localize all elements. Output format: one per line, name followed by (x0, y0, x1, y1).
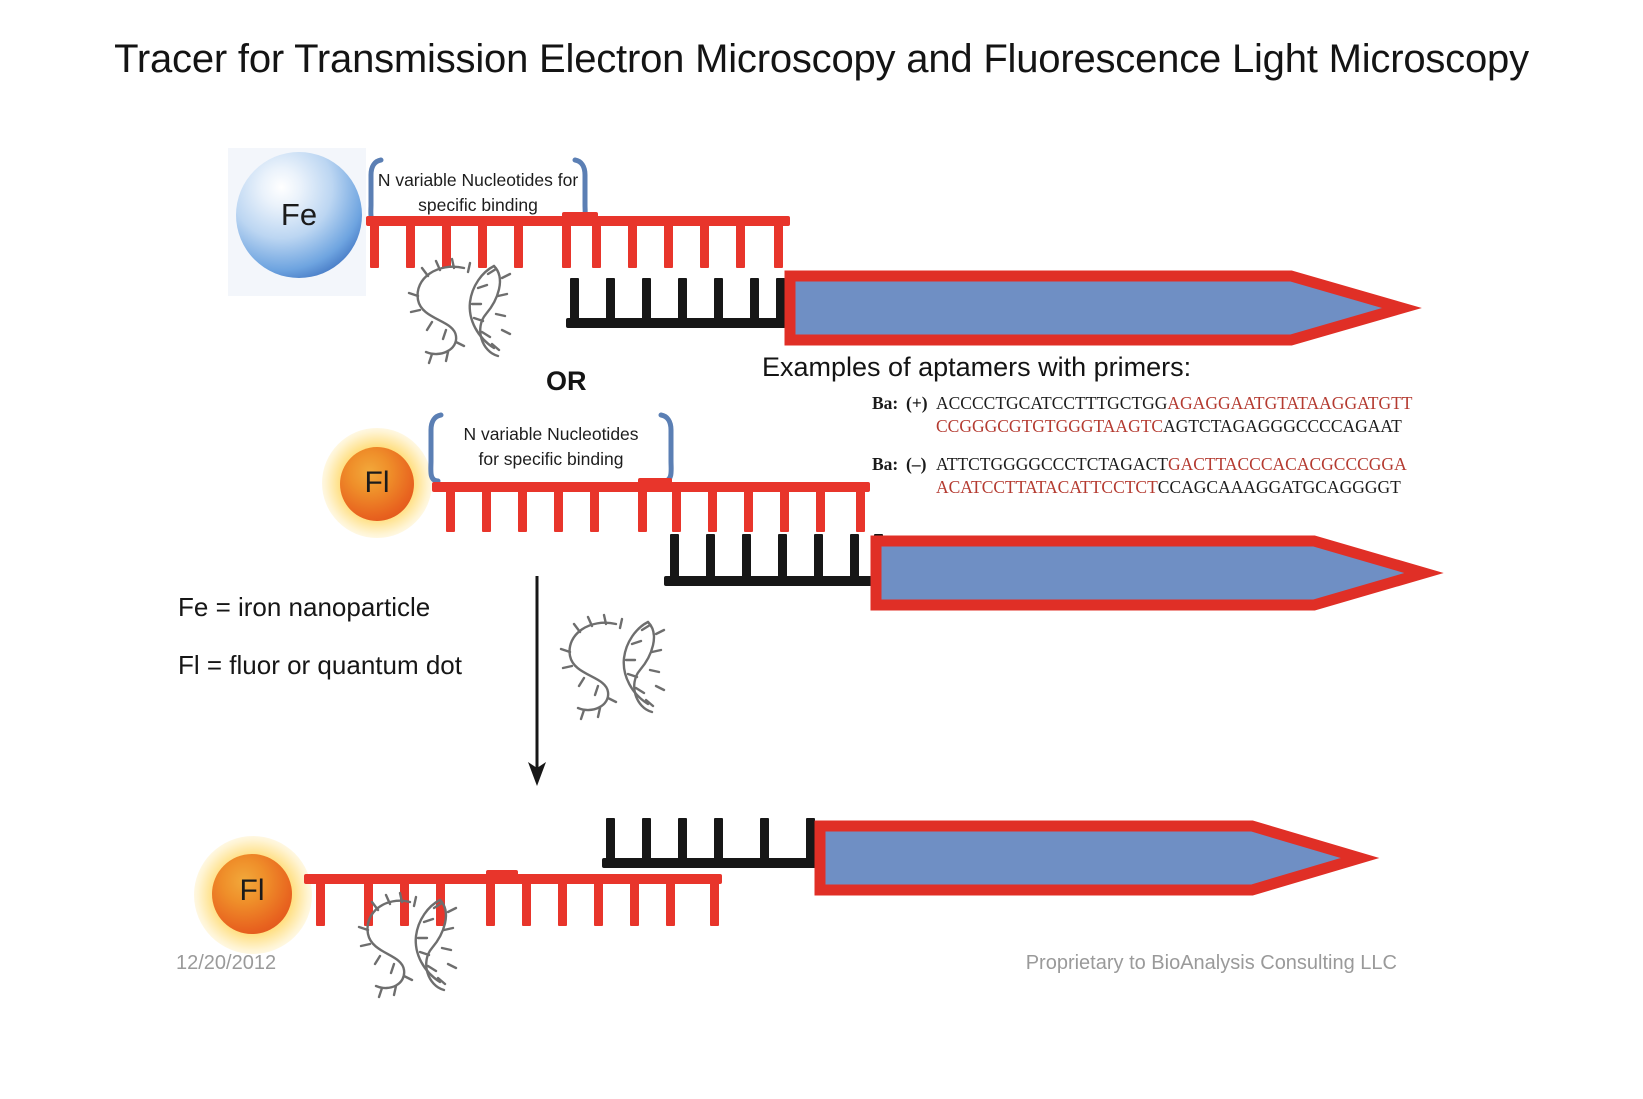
aptamer-tooth (522, 882, 531, 926)
primer-tooth (850, 534, 859, 578)
primer-strand-bottom (602, 818, 822, 868)
primer-tooth (760, 818, 769, 860)
primer-tooth (606, 818, 615, 860)
aptamer-tooth (856, 490, 865, 532)
aptamer-tooth (664, 224, 673, 268)
primer-tooth (642, 278, 651, 320)
aptamer-tooth (518, 490, 527, 532)
aptamer-nub (638, 478, 672, 490)
aptamer-tooth (370, 224, 379, 268)
aptamer-nub (486, 870, 518, 882)
primer-tooth (742, 534, 751, 578)
aptamer-tooth (562, 224, 571, 268)
sequence-row: Ba: (–) ATTCTGGGGCCCTCTAGACTGACTTACCCACA… (872, 453, 1432, 500)
aptamer-tooth (446, 490, 455, 532)
primer-tooth (678, 278, 687, 320)
fl-nanoparticle-label-bottom: Fl (212, 874, 292, 908)
primer-tooth (776, 278, 785, 320)
sequence-tag: Ba: (872, 392, 906, 415)
primer-tooth (670, 534, 679, 578)
aptamer-tooth (638, 490, 647, 532)
fe-nanoparticle-label: Fe (236, 197, 362, 233)
primer-tooth (642, 818, 651, 860)
aptamer-tooth (736, 224, 745, 268)
primer-tooth (606, 278, 615, 320)
sequence-sign: (+) (906, 392, 936, 415)
aptamer-strand-middle (432, 482, 870, 538)
aptamer-tooth (554, 490, 563, 532)
primer-tooth (570, 278, 579, 320)
primer-tooth (714, 818, 723, 860)
sequence-segment-primer3: AGTCTAGAGGGCCCCAGAAT (1163, 416, 1402, 436)
primer-backbone (602, 858, 822, 868)
primer-arrow-bottom (816, 818, 1364, 898)
aptamer-tooth (744, 490, 753, 532)
aptamer-tooth (592, 224, 601, 268)
sequence-sign: (–) (906, 453, 936, 476)
aptamer-tooth (628, 224, 637, 268)
aptamer-tooth (700, 224, 709, 268)
sequence-segment-primer3: CCAGCAAAGGATGCAGGGGT (1158, 477, 1401, 497)
footer-notice: Proprietary to BioAnalysis Consulting LL… (1026, 952, 1397, 975)
aptamer-tooth (590, 490, 599, 532)
primer-tooth (706, 534, 715, 578)
aptamer-tooth (558, 882, 567, 926)
legend-fl: Fl = fluor or quantum dot (178, 650, 462, 681)
primer-tooth (750, 278, 759, 320)
aptamer-tooth (630, 882, 639, 926)
sequence-tag: Ba: (872, 453, 906, 476)
page-title: Tracer for Transmission Electron Microsc… (0, 32, 1643, 86)
aptamer-tooth (672, 490, 681, 532)
aptamer-tooth (482, 490, 491, 532)
primer-tooth (778, 534, 787, 578)
bracket-top-caption-line2: specific binding (418, 195, 538, 215)
bracket-mid-caption-line2: for specific binding (479, 449, 624, 469)
primer-arrow-top (786, 268, 1406, 348)
aptamer-tooth (780, 490, 789, 532)
fl-nanoparticle-label-middle: Fl (340, 466, 414, 500)
aptamer-tooth (316, 882, 325, 926)
or-label: OR (546, 366, 587, 397)
bracket-mid-caption: N variable Nucleotides for specific bind… (432, 422, 670, 473)
aptamer-tooth (710, 882, 719, 926)
aptamer-tooth (708, 490, 717, 532)
ssdna-squiggle-icon (548, 612, 698, 724)
ssdna-squiggle-icon (398, 256, 538, 366)
aptamer-tooth (594, 882, 603, 926)
bracket-top-caption-line1: N variable Nucleotides for (378, 170, 578, 190)
aptamer-tooth (666, 882, 675, 926)
aptamer-tooth (486, 882, 495, 926)
sequence-body: ATTCTGGGGCCCTCTAGACTGACTTACCCACACGCCCGGA… (936, 453, 1416, 500)
ssdna-squiggle-icon (352, 890, 482, 1002)
primer-tooth (806, 818, 815, 860)
sequence-segment-primer5: ACCCCTGCATCCTTTGCTGG (936, 393, 1167, 413)
aptamer-nub (562, 212, 598, 224)
sequences-heading: Examples of aptamers with primers: (762, 352, 1191, 383)
bracket-mid-caption-line1: N variable Nucleotides (463, 424, 638, 444)
primer-arrow-middle (872, 533, 1428, 613)
aptamer-tooth (816, 490, 825, 532)
primer-tooth (714, 278, 723, 320)
sequence-segment-primer5: ATTCTGGGGCCCTCTAGACT (936, 454, 1168, 474)
slide-canvas: Tracer for Transmission Electron Microsc… (0, 0, 1643, 1099)
aptamer-tooth (774, 224, 783, 268)
sequences-list: Ba: (+) ACCCCTGCATCCTTTGCTGGAGAGGAATGTAT… (872, 392, 1432, 511)
bracket-top-caption: N variable Nucleotides for specific bind… (372, 168, 584, 219)
primer-strand-top (566, 278, 786, 328)
sequence-row: Ba: (+) ACCCCTGCATCCTTTGCTGGAGAGGAATGTAT… (872, 392, 1432, 439)
footer-date: 12/20/2012 (176, 952, 276, 975)
primer-tooth (678, 818, 687, 860)
legend-fe: Fe = iron nanoparticle (178, 592, 430, 623)
primer-strand-middle (664, 534, 884, 586)
sequence-body: ACCCCTGCATCCTTTGCTGGAGAGGAATGTATAAGGATGT… (936, 392, 1416, 439)
primer-tooth (814, 534, 823, 578)
